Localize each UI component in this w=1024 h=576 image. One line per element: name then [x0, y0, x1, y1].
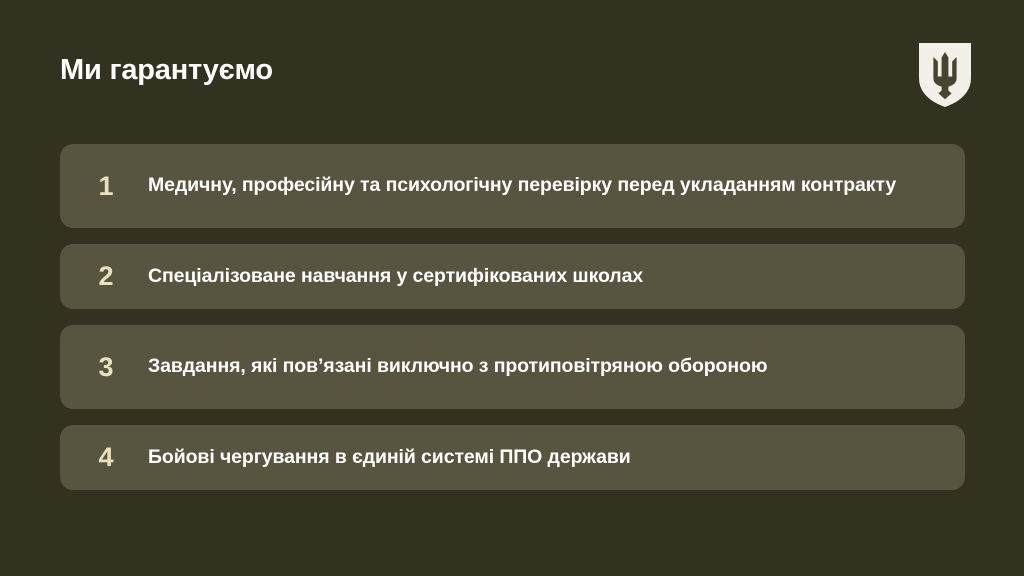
page-title: Ми гарантуємо	[60, 54, 273, 87]
list-item-label: Медичну, професійну та психологічну пере…	[148, 173, 965, 199]
list-item-number: 4	[60, 444, 148, 471]
list-item-number: 3	[60, 354, 148, 381]
list-item[interactable]: 3 Завдання, які пов’язані виключно з про…	[60, 325, 965, 409]
list-item-label: Спеціалізоване навчання у сертифікованих…	[148, 264, 965, 290]
presentation-slide: Ми гарантуємо 1 Медичну, професійну та п…	[0, 0, 1024, 576]
list-item[interactable]: 2 Спеціалізоване навчання у сертифікован…	[60, 244, 965, 309]
list-item[interactable]: 1 Медичну, професійну та психологічну пе…	[60, 144, 965, 228]
list-item-number: 2	[60, 263, 148, 290]
list-item-number: 1	[60, 173, 148, 200]
ukrainian-armed-forces-shield-trident-icon	[918, 42, 972, 108]
list-item[interactable]: 4 Бойові чергування в єдиній системі ППО…	[60, 425, 965, 490]
list-item-label: Завдання, які пов’язані виключно з проти…	[148, 354, 965, 380]
list-item-label: Бойові чергування в єдиній системі ППО д…	[148, 445, 965, 471]
guarantee-list: 1 Медичну, професійну та психологічну пе…	[60, 144, 965, 506]
